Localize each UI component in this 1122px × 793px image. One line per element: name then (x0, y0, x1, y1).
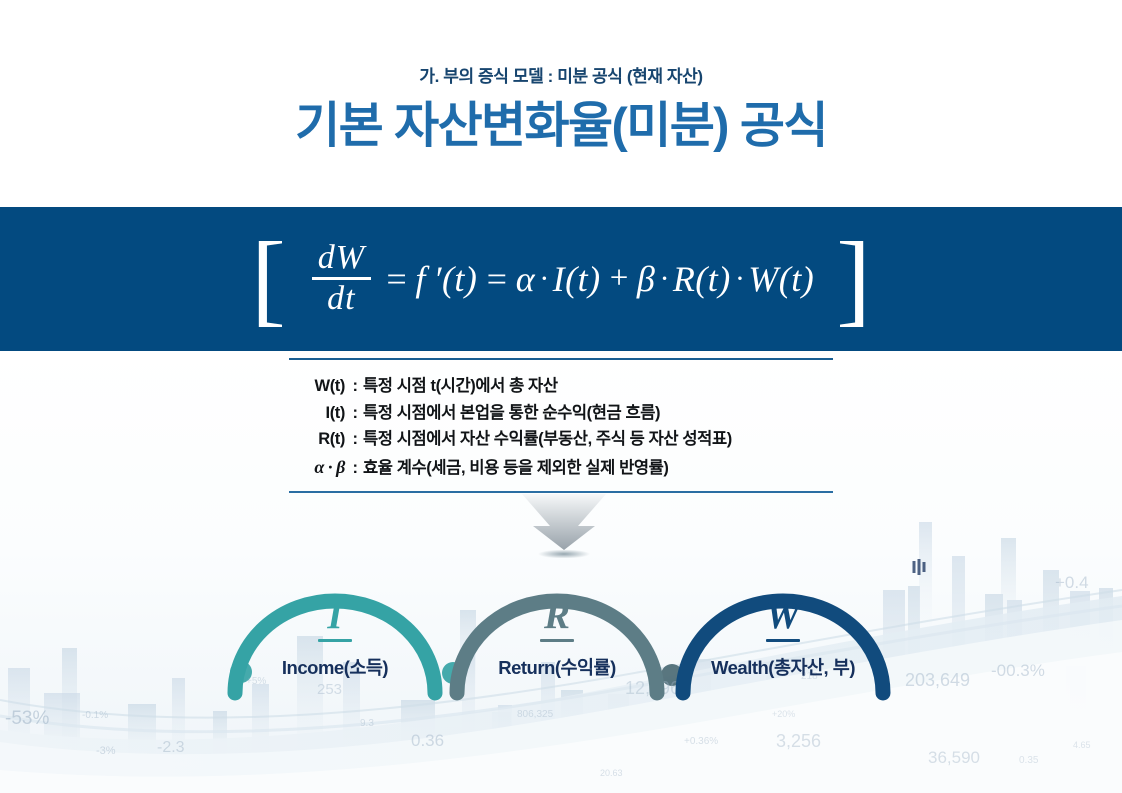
bracket-right-icon: ] (836, 238, 871, 319)
legend-symbol: I(t) (289, 400, 347, 427)
formula-expression: [ dW dt = f ′(t) = α · I(t) + β · R(t) ·… (251, 238, 871, 319)
alpha-symbol: α (516, 258, 535, 300)
bracket-left-icon: [ (251, 238, 286, 319)
legend-row: W(t):특정 시점 t(시간)에서 총 자산 (289, 373, 833, 400)
formula-band: [ dW dt = f ′(t) = α · I(t) + β · R(t) ·… (0, 207, 1122, 351)
page-subtitle: 가. 부의 증식 모델 : 미분 공식 (현재 자산) (0, 62, 1122, 87)
watermark-number: 9.3 (360, 718, 374, 729)
wealth-term: W(t) (748, 258, 814, 300)
legend-description: 효율 계수(세금, 비용 등을 제외한 실제 반영률) (363, 455, 833, 482)
watermark-number: 0.36 (411, 731, 444, 751)
arch-name: Wealth(총자산, 부) (663, 654, 903, 680)
legend-description: 특정 시점에서 본업을 통한 순수익(현금 흐름) (363, 400, 833, 427)
watermark-number: +0.36% (684, 736, 718, 747)
fraction-numerator: dW (312, 241, 371, 278)
legend-colon: : (347, 373, 363, 400)
page-title: 기본 자산변화율(미분) 공식 (0, 99, 1122, 154)
fraction-denominator: dt (321, 280, 361, 317)
income-term: I(t) (553, 258, 601, 300)
arch-letter: W (663, 596, 903, 635)
derivative-term: f ′(t) (415, 258, 477, 300)
equals-sign-2: = (484, 258, 508, 300)
multiply-dot-2: · (660, 262, 668, 296)
legend-colon: : (347, 426, 363, 453)
legend-colon: : (347, 455, 363, 482)
fraction-dw-dt: dW dt (312, 241, 371, 317)
arch-letter-underline (766, 639, 800, 642)
arch-letter-underline (540, 639, 574, 642)
equals-sign-1: = (384, 258, 408, 300)
legend-description: 특정 시점에서 자산 수익률(부동산, 주식 등 자산 성적표) (363, 426, 833, 453)
watermark-number: 4.65 (1073, 740, 1091, 750)
watermark-number: 20.63 (600, 768, 623, 778)
legend-row: α · β:효율 계수(세금, 비용 등을 제외한 실제 반영률) (289, 453, 833, 482)
watermark-number: 806,325 (517, 709, 553, 720)
arch-letter-underline (318, 639, 352, 642)
watermark-number: 36,590 (928, 748, 980, 768)
legend-row: I(t):특정 시점에서 본업을 통한 순수익(현금 흐름) (289, 400, 833, 427)
arch-label-i[interactable]: IIncome(소득) (215, 596, 455, 680)
arch-name: Income(소득) (215, 654, 455, 680)
arch-name: Return(수익률) (437, 654, 677, 680)
legend-symbol: α · β (289, 453, 347, 482)
legend-colon: : (347, 400, 363, 427)
watermark-number: +20% (772, 709, 795, 719)
arch-letter: R (437, 596, 677, 635)
multiply-dot-1: · (540, 262, 548, 296)
arch-label-w[interactable]: WWealth(총자산, 부) (663, 596, 903, 680)
legend-rows: W(t):특정 시점 t(시간)에서 총 자산I(t):특정 시점에서 본업을 … (289, 360, 833, 491)
watermark-number: -53% (5, 708, 49, 730)
watermark-number: 3,256 (776, 731, 821, 752)
plus-sign: + (608, 260, 630, 297)
beta-symbol: β (637, 258, 655, 300)
legend-block: W(t):특정 시점 t(시간)에서 총 자산I(t):특정 시점에서 본업을 … (289, 358, 833, 493)
arch-letter: I (215, 596, 455, 635)
legend-symbol: R(t) (289, 426, 347, 453)
watermark-number: -2.3 (157, 739, 185, 757)
legend-row: R(t):특정 시점에서 자산 수익률(부동산, 주식 등 자산 성적표) (289, 426, 833, 453)
heading-block: 가. 부의 증식 모델 : 미분 공식 (현재 자산) 기본 자산변화율(미분)… (0, 0, 1122, 154)
watermark-number: -0.1% (82, 710, 108, 721)
multiply-dot-3: · (736, 262, 744, 296)
return-term: R(t) (673, 258, 731, 300)
slide-canvas: -53%-0.1%-3%-2.32539.30.36806,32520.6312… (0, 0, 1122, 793)
watermark-number: -3% (96, 745, 116, 757)
legend-description: 특정 시점 t(시간)에서 총 자산 (363, 373, 833, 400)
watermark-number: 0.35 (1019, 755, 1038, 766)
legend-symbol: W(t) (289, 373, 347, 400)
arch-label-r[interactable]: RReturn(수익률) (437, 596, 677, 680)
